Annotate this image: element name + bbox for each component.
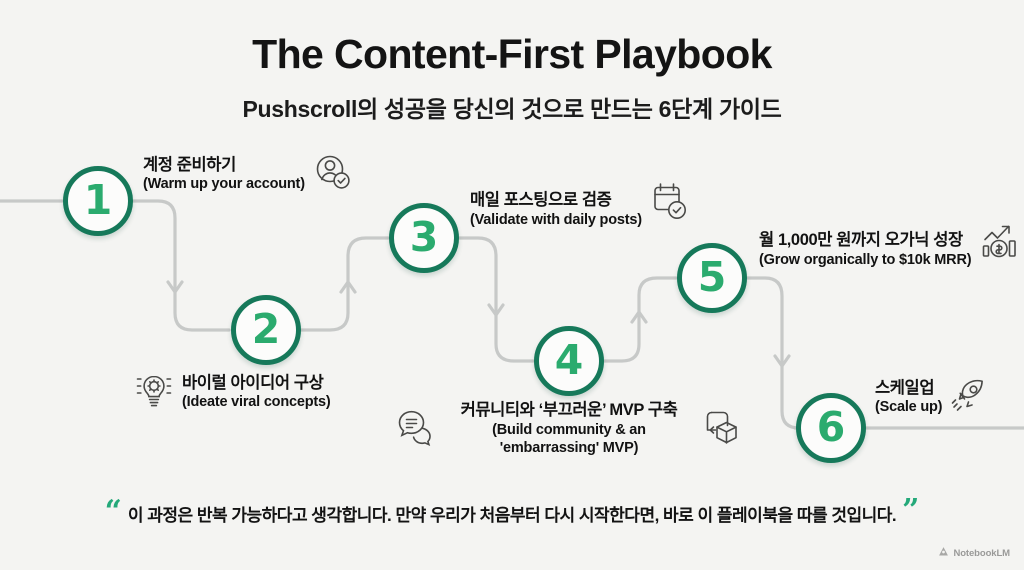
package-box-icon	[696, 406, 742, 457]
step-label-en-2: (Ideate viral concepts)	[182, 393, 331, 412]
step-node-1[interactable]: 1	[63, 166, 133, 236]
quote-close-icon: ”	[902, 496, 919, 526]
connector-3-4	[459, 238, 533, 361]
step-label-ko-2: 바이럴 아이디어 구상	[182, 373, 331, 394]
step-label-ko-3: 매일 포스팅으로 검증	[470, 190, 642, 211]
connector-5-6	[747, 278, 799, 428]
step-circle-5: 5	[677, 243, 747, 313]
step-label-3: 매일 포스팅으로 검증 (Validate with daily posts)	[470, 190, 689, 229]
step-node-3[interactable]: 3	[389, 203, 459, 273]
chat-bubbles-icon	[398, 406, 442, 453]
step-label-en-3: (Validate with daily posts)	[470, 211, 642, 230]
step-label-1: 계정 준비하기 (Warm up your account)	[143, 152, 352, 197]
step-label-ko-5: 월 1,000만 원까지 오가닉 성장	[759, 230, 971, 251]
growth-chart-icon	[978, 219, 1022, 268]
flow-connector-diagram	[0, 0, 1024, 570]
step-circle-4: 4	[534, 326, 604, 396]
step-label-2: 바이럴 아이디어 구상 (Ideate viral concepts)	[133, 368, 331, 417]
connector-2-3	[301, 238, 388, 330]
step-number-4: 4	[555, 340, 584, 381]
step-label-ko-6: 스케일업	[875, 378, 942, 399]
step-label-en-6: (Scale up)	[875, 398, 942, 417]
step-number-6: 6	[817, 407, 846, 448]
user-check-icon	[312, 152, 352, 197]
step-circle-2: 2	[231, 295, 301, 365]
step-label-en-4: (Build community & an 'embarrassing' MVP…	[449, 421, 689, 459]
step-label-ko-4: 커뮤니티와 ‘부끄러운’ MVP 구축	[449, 400, 689, 421]
watermark-label: NotebookLM	[953, 548, 1010, 559]
watermark: NotebookLM	[938, 546, 1010, 560]
quote-text: 이 과정은 반복 가능하다고 생각합니다. 만약 우리가 처음부터 다시 시작한…	[128, 501, 896, 526]
step-circle-3: 3	[389, 203, 459, 273]
step-label-en-1: (Warm up your account)	[143, 175, 305, 194]
infographic-canvas: The Content-First Playbook Pushscroll의 성…	[0, 0, 1024, 570]
step-number-5: 5	[698, 257, 727, 298]
step-label-4: 커뮤니티와 ‘부끄러운’ MVP 구축 (Build community & a…	[398, 400, 742, 458]
step-circle-1: 1	[63, 166, 133, 236]
step-node-2[interactable]: 2	[231, 295, 301, 365]
step-number-1: 1	[84, 180, 113, 221]
step-label-5: 월 1,000만 원까지 오가닉 성장 (Grow organically to…	[759, 230, 1022, 269]
quote-block: “ 이 과정은 반복 가능하다고 생각합니다. 만약 우리가 처음부터 다시 시…	[0, 496, 1024, 531]
notebooklm-logo-icon	[938, 546, 949, 560]
calendar-check-icon	[649, 180, 689, 227]
step-node-6[interactable]: 6	[796, 393, 866, 463]
step-circle-6: 6	[796, 393, 866, 463]
step-label-en-5: (Grow organically to $10k MRR)	[759, 251, 971, 270]
rocket-icon	[949, 375, 989, 420]
step-node-5[interactable]: 5	[677, 243, 747, 313]
step-label-6: 스케일업 (Scale up)	[875, 375, 989, 420]
connector-4-5	[604, 278, 676, 361]
step-label-ko-1: 계정 준비하기	[143, 155, 305, 176]
quote-open-icon: “	[105, 497, 122, 527]
connector-1-2	[133, 201, 229, 330]
step-number-3: 3	[410, 217, 439, 258]
step-number-2: 2	[252, 309, 281, 350]
lightbulb-gear-icon	[133, 368, 175, 417]
step-node-4[interactable]: 4	[534, 326, 604, 396]
